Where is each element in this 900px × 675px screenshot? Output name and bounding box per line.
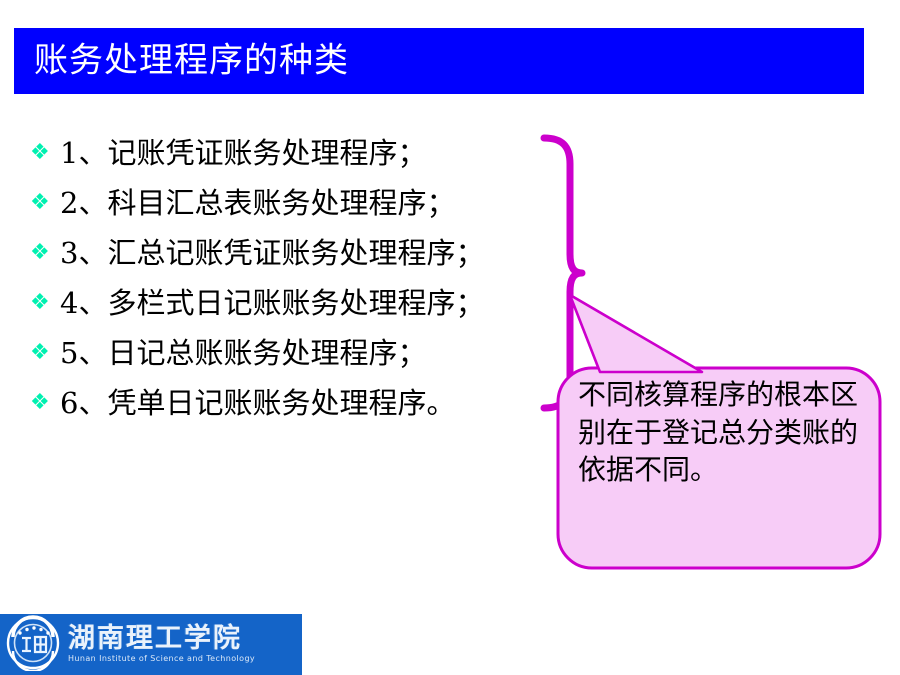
diamond-cluster-icon: ❖ xyxy=(30,342,60,364)
university-name-cn: 湖南理工学院 xyxy=(68,625,255,653)
diamond-cluster-icon: ❖ xyxy=(30,392,60,414)
list-item: ❖ 5、日记总账账务处理程序； xyxy=(30,328,550,378)
callout-text: 不同核算程序的根本区别在于登记总分类账的依据不同。 xyxy=(578,376,858,489)
page-title: 账务处理程序的种类 xyxy=(34,43,349,77)
list-item-label: 4、多栏式日记账账务处理程序； xyxy=(60,289,484,318)
list-item: ❖ 1、记账凭证账务处理程序； xyxy=(30,128,550,178)
university-name-block: 湖南理工学院 Hunan Institute of Science and Te… xyxy=(68,625,255,664)
bullet-list: ❖ 1、记账凭证账务处理程序； ❖ 2、科目汇总表账务处理程序； ❖ 3、汇总记… xyxy=(30,128,550,428)
list-item: ❖ 4、多栏式日记账账务处理程序； xyxy=(30,278,550,328)
list-item: ❖ 3、汇总记账凭证账务处理程序； xyxy=(30,228,550,278)
list-item-label: 6、凭单日记账账务处理程序。 xyxy=(60,389,455,418)
university-emblem-icon xyxy=(4,615,62,675)
list-item-label: 1、记账凭证账务处理程序； xyxy=(60,139,426,168)
list-item-label: 2、科目汇总表账务处理程序； xyxy=(60,189,455,218)
list-item-label: 5、日记总账账务处理程序； xyxy=(60,339,426,368)
diamond-cluster-icon: ❖ xyxy=(30,292,60,314)
university-name-en: Hunan Institute of Science and Technolog… xyxy=(68,655,255,664)
callout-bubble: 不同核算程序的根本区别在于登记总分类账的依据不同。 xyxy=(552,288,886,576)
diamond-cluster-icon: ❖ xyxy=(30,142,60,164)
diamond-cluster-icon: ❖ xyxy=(30,242,60,264)
university-logo: 湖南理工学院 Hunan Institute of Science and Te… xyxy=(0,614,302,675)
list-item-label: 3、汇总记账凭证账务处理程序； xyxy=(60,239,484,268)
list-item: ❖ 6、凭单日记账账务处理程序。 xyxy=(30,378,550,428)
list-item: ❖ 2、科目汇总表账务处理程序； xyxy=(30,178,550,228)
diamond-cluster-icon: ❖ xyxy=(30,192,60,214)
slide-title-bar: 账务处理程序的种类 xyxy=(14,28,864,94)
